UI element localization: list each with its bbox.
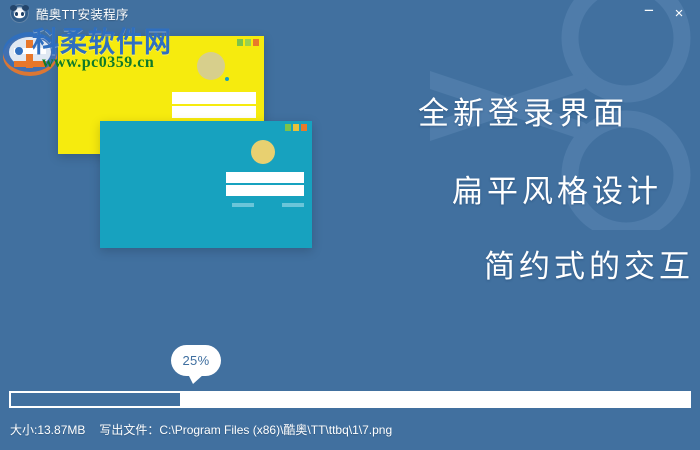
- preview-accent-dot-icon: [225, 77, 229, 81]
- window-title: 酷奥TT安装程序: [36, 4, 129, 23]
- progress-bar-fill: [11, 393, 181, 406]
- preview-avatar: [197, 52, 225, 80]
- preview-avatar: [251, 140, 275, 164]
- preview-window-controls: [237, 39, 259, 46]
- progress-bar: [9, 391, 691, 408]
- control-green-icon: [285, 124, 291, 131]
- title-bar: 酷奥TT安装程序 − ×: [0, 0, 700, 26]
- preview-window-controls: [285, 124, 307, 131]
- watermark-logo-icon: [2, 28, 58, 78]
- control-orange-icon: [253, 39, 259, 46]
- control-lightgreen-icon: [245, 39, 251, 46]
- preview-password-field: [226, 185, 304, 196]
- control-yellow-icon: [293, 124, 299, 131]
- preview-option-right: [282, 203, 304, 207]
- close-button[interactable]: ×: [664, 0, 694, 26]
- preview-option-left: [232, 203, 254, 207]
- status-file-label: 写出文件：C:\Program Files (x86)\酷奥\TT\ttbq\1…: [99, 421, 392, 438]
- preview-username-field: [172, 92, 256, 104]
- status-bar: 大小:13.87MB 写出文件：C:\Program Files (x86)\酷…: [10, 421, 392, 438]
- preview-window-teal: [100, 121, 312, 248]
- progress-percent-label: 25%: [183, 353, 210, 368]
- control-green-icon: [237, 39, 243, 46]
- status-size-label: 大小:13.87MB: [10, 421, 85, 438]
- control-orange-icon: [301, 124, 307, 131]
- promo-line-1: 全新登录界面: [418, 88, 628, 133]
- promo-line-2: 扁平风格设计: [452, 166, 662, 211]
- preview-username-field: [226, 172, 304, 183]
- installer-window: 酷奥TT安装程序 − × 科柔软件网 www.pc0359.cn: [0, 0, 700, 450]
- promo-line-3: 简约式的交互: [484, 241, 694, 286]
- minimize-button[interactable]: −: [634, 0, 664, 26]
- window-controls: − ×: [634, 0, 700, 26]
- panda-icon: [10, 4, 29, 23]
- progress-percent-bubble: 25%: [171, 345, 221, 376]
- preview-password-field: [172, 106, 256, 118]
